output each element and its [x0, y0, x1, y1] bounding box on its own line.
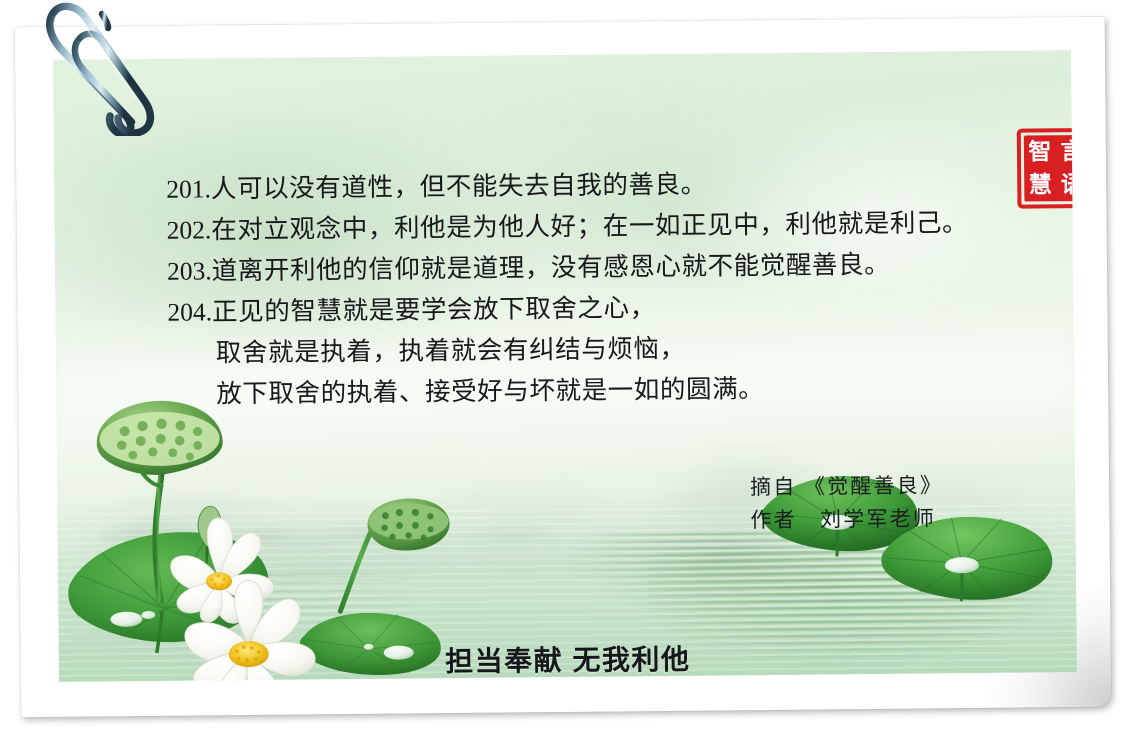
quote-number-204: 204.	[167, 297, 212, 326]
lotus-seed-pod-small	[339, 498, 450, 611]
reflection-pad-back	[567, 531, 873, 621]
quote-number-201: 201.	[166, 174, 211, 203]
paper-sheet: 201.人可以没有道性，但不能失去自我的善良。 202.在对立观念中，利他是为他…	[15, 17, 1112, 717]
seal-char-2: 言	[1060, 140, 1077, 163]
slogan-block: 担当奉献 无我利他 圣贤文化教育 振兴精神文化	[59, 636, 1077, 682]
seal-char-1: 智	[1028, 140, 1051, 163]
quote-body-201: 人可以没有道性，但不能失去自我的善良。	[211, 170, 707, 204]
mountain-ridge-stroke	[98, 483, 689, 545]
quote-text-block: 201.人可以没有道性，但不能失去自我的善良。 202.在对立观念中，利他是为他…	[166, 160, 1048, 414]
quote-body-203: 道离开利他的信仰就是道理，没有感恩心就不能觉醒善良。	[212, 250, 891, 286]
quote-line-204c: 放下取舍的执着、接受好与坏就是一如的圆满。	[168, 365, 1048, 414]
attribution-author: 作者 刘学军老师	[750, 502, 943, 537]
seal-stamp: 智 言 慧 语	[1017, 128, 1077, 209]
lotus-stem-large	[155, 469, 163, 601]
seal-char-4: 语	[1061, 173, 1077, 196]
attribution-source: 摘自 《觉醒善良》	[750, 469, 943, 504]
lotus-bud	[198, 506, 222, 600]
seal-char-3: 慧	[1029, 173, 1052, 196]
lotus-pond-image: 201.人可以没有道性，但不能失去自我的善良。 202.在对立观念中，利他是为他…	[53, 50, 1077, 682]
seal-face: 智 言 慧 语	[1024, 135, 1077, 202]
quote-line-202: 202.在对立观念中，利他是为他人好；在一如正见中，利他就是利己。	[166, 201, 1046, 250]
quote-number-202: 202.	[167, 215, 212, 244]
attribution-block: 摘自 《觉醒善良》 作者 刘学军老师	[750, 469, 944, 537]
screenshot-stage: 201.人可以没有道性，但不能失去自我的善良。 202.在对立观念中，利他是为他…	[0, 0, 1129, 737]
white-lotus-flower-upper	[170, 517, 274, 624]
quote-body-204: 正见的智慧就是要学会放下取舍之心，	[212, 293, 656, 326]
lotus-cluster-left	[66, 384, 459, 682]
slogan-line-1: 担当奉献 无我利他	[59, 636, 1077, 682]
quote-body-202: 在对立观念中，利他是为他人好；在一如正见中，利他就是利己。	[211, 208, 968, 244]
lotus-leaf-left	[68, 531, 269, 653]
quote-number-203: 203.	[167, 256, 212, 285]
